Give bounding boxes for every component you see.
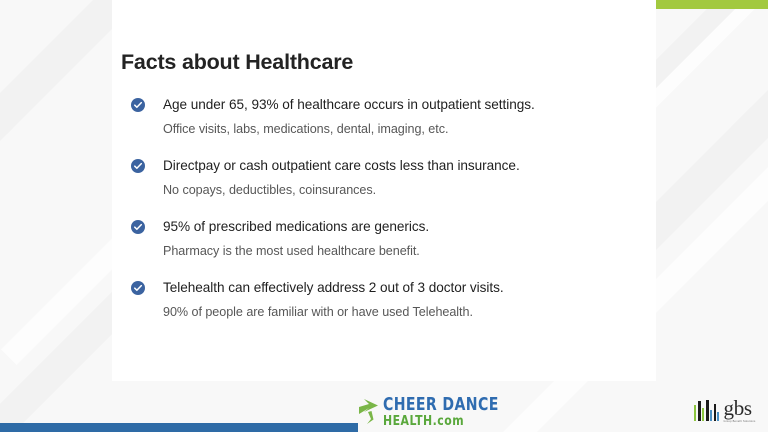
facts-list: Age under 65, 93% of healthcare occurs i… <box>121 96 651 320</box>
fact-detail: No copays, deductibles, coinsurances. <box>163 182 651 198</box>
cdh-line-two: HEALTH.com <box>383 415 500 428</box>
list-item: 95% of prescribed medications are generi… <box>121 218 651 259</box>
cheer-dance-health-logo: CHEER DANCE HEALTH.com <box>358 396 506 426</box>
fact-headline: Age under 65, 93% of healthcare occurs i… <box>163 96 651 113</box>
cdh-line-one: CHEER DANCE <box>383 396 499 414</box>
gbs-tagline: Group Benefit Solutions <box>724 420 756 423</box>
check-circle-icon <box>131 220 145 234</box>
check-circle-icon <box>131 98 145 112</box>
bottom-accent-bar <box>0 423 358 432</box>
list-item: Age under 65, 93% of healthcare occurs i… <box>121 96 651 137</box>
cheer-dance-health-wordmark: CHEER DANCE HEALTH.com <box>383 396 506 427</box>
list-item: Telehealth can effectively address 2 out… <box>121 279 651 320</box>
page-title: Facts about Healthcare <box>121 50 353 75</box>
content-card: Facts about Healthcare Age under 65, 93%… <box>112 0 656 381</box>
fact-detail: Office visits, labs, medications, dental… <box>163 121 651 137</box>
fact-headline: Directpay or cash outpatient care costs … <box>163 157 651 174</box>
check-circle-icon <box>131 281 145 295</box>
star-arrow-icon <box>358 398 382 424</box>
list-item: Directpay or cash outpatient care costs … <box>121 157 651 198</box>
slide-canvas: Facts about Healthcare Age under 65, 93%… <box>0 0 768 432</box>
fact-headline: Telehealth can effectively address 2 out… <box>163 279 651 296</box>
check-circle-icon <box>131 159 145 173</box>
bar-chart-icon <box>694 399 721 421</box>
gbs-wordmark: gbs <box>724 398 756 419</box>
gbs-logo: gbs Group Benefit Solutions <box>694 398 756 423</box>
fact-detail: Pharmacy is the most used healthcare ben… <box>163 243 651 259</box>
fact-headline: 95% of prescribed medications are generi… <box>163 218 651 235</box>
fact-detail: 90% of people are familiar with or have … <box>163 304 651 320</box>
